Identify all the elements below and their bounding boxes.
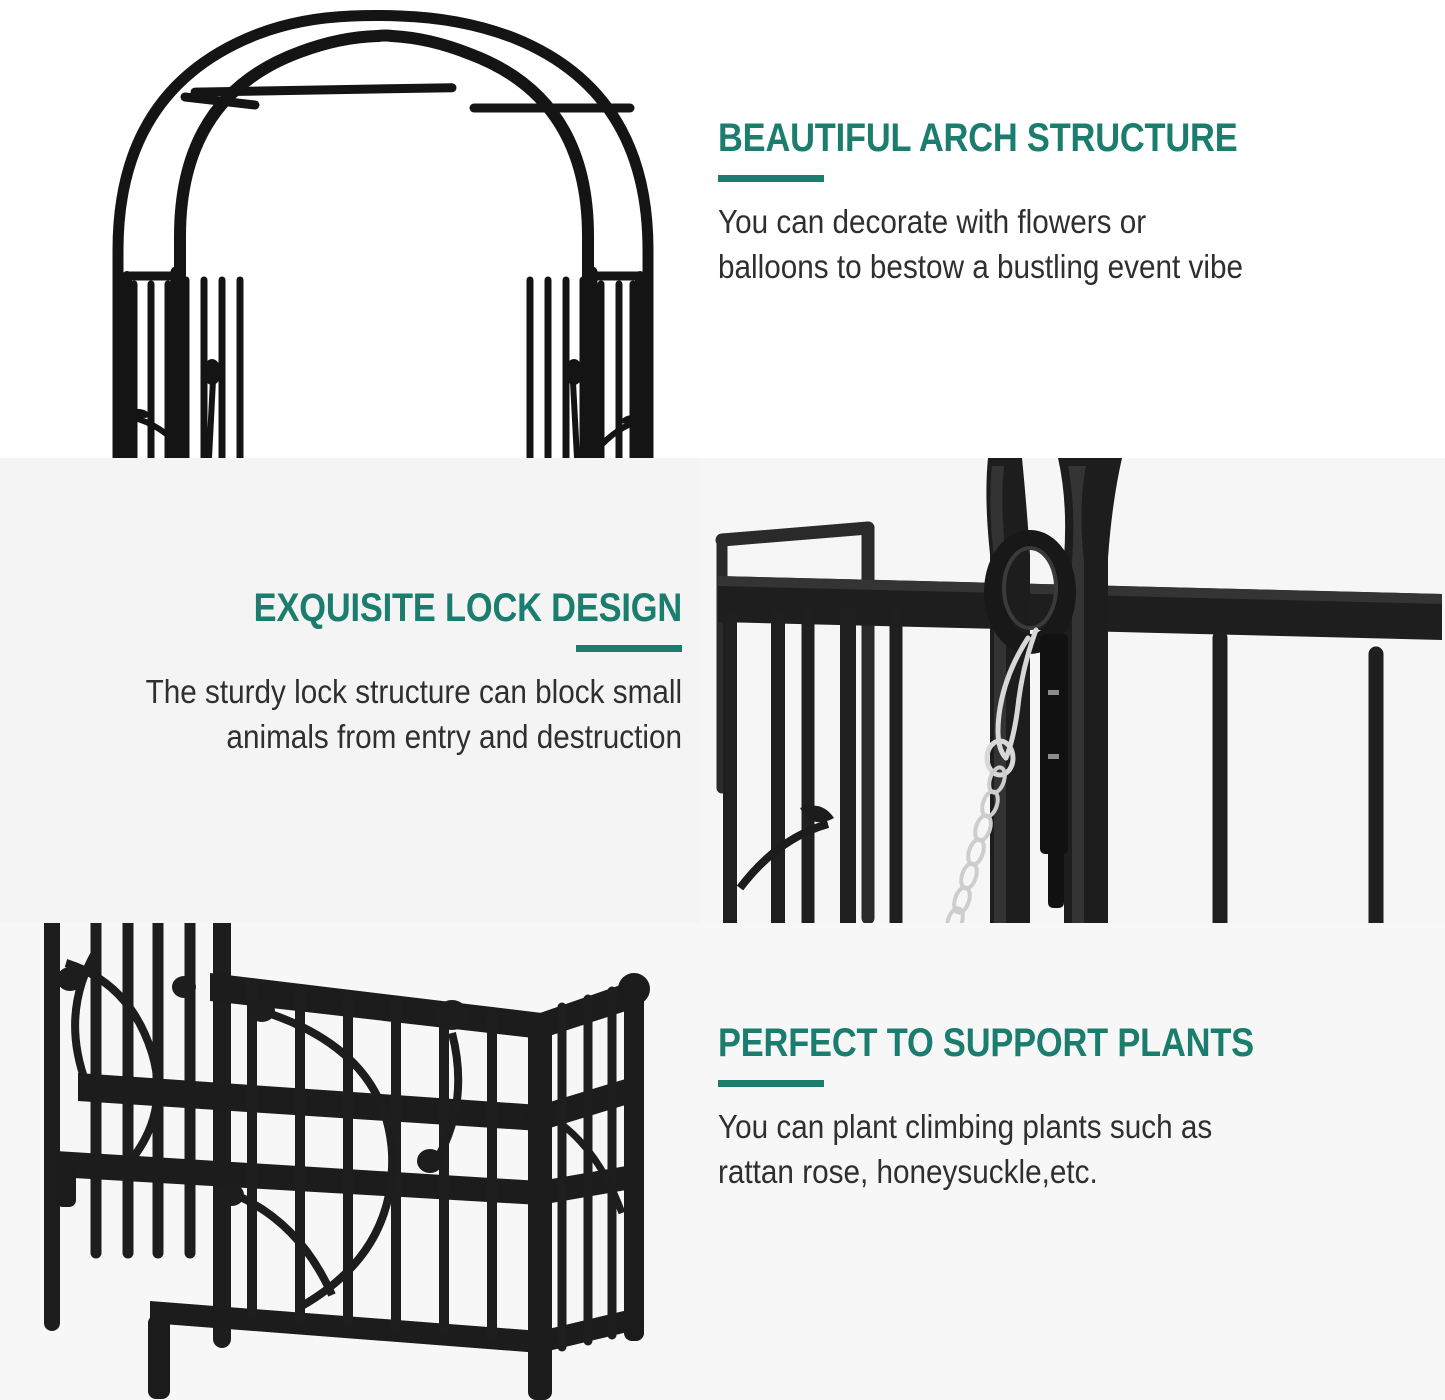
leg-front-left [148, 1315, 170, 1399]
panel-heading: PERFECT TO SUPPORT PLANTS [718, 1023, 1254, 1064]
lock-design-copy: EXQUISITE LOCK DESIGN The sturdy lock st… [0, 458, 700, 923]
arch-structure-copy: BEAUTIFUL ARCH STRUCTURE You can decorat… [700, 0, 1445, 458]
bolt-screw-top [1048, 690, 1059, 695]
product-feature-infographic: BEAUTIFUL ARCH STRUCTURE You can decorat… [0, 0, 1445, 1400]
gate-post-left [986, 458, 1030, 923]
panel-body-line-1: You can plant climbing plants such as [718, 1105, 1279, 1150]
support-plants-copy: PERFECT TO SUPPORT PLANTS You can plant … [700, 923, 1445, 1400]
panel-body-line-1: You can decorate with flowers or [718, 200, 1262, 245]
rose-bud [249, 1000, 275, 1022]
planter-box-base-icon [0, 923, 700, 1400]
right-side-panel [530, 272, 640, 458]
corner-post-front [525, 1019, 555, 1379]
gate-lock-with-chain-icon [700, 458, 1445, 923]
panel-body-line-2: rattan rose, honeysuckle,etc. [718, 1150, 1279, 1195]
leaf-motif [417, 1149, 443, 1173]
panel-body-line-2: animals from entry and destruction [146, 715, 682, 760]
planter-box-photo [0, 923, 700, 1400]
accent-underline [718, 175, 824, 182]
ball-finial [525, 1098, 555, 1128]
left-side-panel [127, 272, 240, 458]
panel-heading: BEAUTIFUL ARCH STRUCTURE [718, 118, 1238, 159]
panel-body-line-2: balloons to bestow a bustling event vibe [718, 245, 1262, 290]
ball-finial [618, 973, 650, 1005]
arch-structure-illustration [0, 0, 700, 458]
feature-panel-lock-design: EXQUISITE LOCK DESIGN The sturdy lock st… [0, 458, 1445, 923]
panel-body-line-1: The sturdy lock structure can block smal… [146, 670, 682, 715]
rose-bud-left [203, 359, 221, 385]
leg-front-right [528, 1343, 552, 1400]
bolt-screw-bottom [1048, 754, 1059, 759]
leg-rear-left [56, 1167, 76, 1207]
garden-arbor-arch-icon [0, 0, 700, 458]
rose-bloom [436, 1000, 468, 1030]
rose-bud-right [565, 359, 583, 385]
accent-underline [718, 1080, 824, 1087]
rose-bud [172, 976, 196, 998]
lock-design-photo [700, 458, 1445, 923]
panel-heading: EXQUISITE LOCK DESIGN [169, 588, 682, 629]
accent-underline [576, 645, 682, 652]
feature-panel-arch-structure: BEAUTIFUL ARCH STRUCTURE You can decorat… [0, 0, 1445, 458]
feature-panel-support-plants: PERFECT TO SUPPORT PLANTS You can plant … [0, 923, 1445, 1400]
rose-bud [57, 967, 83, 991]
leaf-motif [220, 1184, 244, 1206]
